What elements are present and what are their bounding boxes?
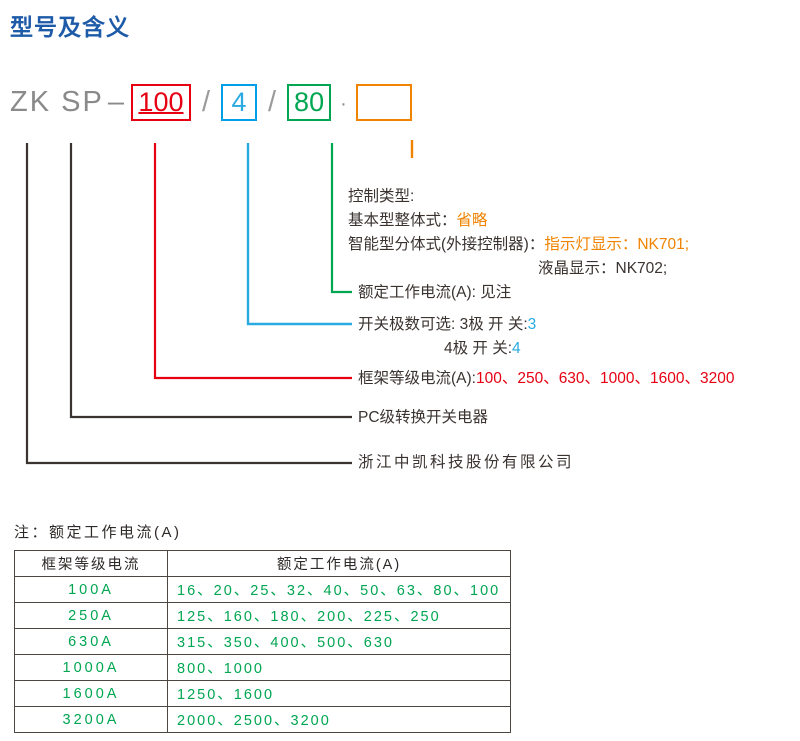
code-slash-1: / [202,88,210,117]
page-title: 型号及含义 [10,8,130,42]
annotation-basic-label: 基本型整体式： [348,212,457,229]
note-label: 注：额定工作电流(A) [14,521,182,542]
table-cell-currents: 125、160、180、200、225、250 [168,603,511,629]
table-cell-currents: 315、350、400、500、630 [168,629,511,655]
leader-line-pc-class [71,143,352,417]
code-slash-2: / [268,88,276,117]
code-box-frame-current[interactable]: 100 [131,84,191,121]
annotation-rated-current: 额定工作电流(A): 见注 [358,285,511,301]
table-cell-frame: 630A [15,629,168,655]
table-cell-frame: 1000A [15,655,168,681]
annotation-smart-value-indicator: 指示灯显示：NK701; [544,236,689,253]
annotation-poles-label: 开关极数可选: 3极 开 关: [358,316,528,333]
annotation-basic-value: 省略 [457,212,488,229]
table-header-frame: 框架等级电流 [15,551,168,577]
annotation-poles-value-4: 4 [512,340,521,357]
annotation-poles-value-3: 3 [528,316,537,333]
table-row: 1000A 800、1000 [15,655,511,681]
rated-current-table: 框架等级电流 额定工作电流(A) 100A 16、20、25、32、40、50、… [14,550,511,733]
annotation-frame-label: 框架等级电流(A): [358,370,476,387]
annotation-smart-label: 智能型分体式(外接控制器)： [348,236,544,253]
annotation-company: 浙江中凯科技股份有限公司 [358,455,574,471]
table-cell-currents: 2000、2500、3200 [168,707,511,733]
table-row: 3200A 2000、2500、3200 [15,707,511,733]
code-dash: – [108,88,124,117]
table-cell-frame: 1600A [15,681,168,707]
annotation-smart-value-lcd: 液晶显示：NK702; [538,261,667,277]
annotation-poles-label-2: 4极 开 关: [444,340,512,357]
annotation-smart-type: 智能型分体式(外接控制器)：指示灯显示：NK701; [348,237,689,253]
annotation-basic-type: 基本型整体式：省略 [348,213,488,229]
table-cell-currents: 16、20、25、32、40、50、63、80、100 [168,577,511,603]
code-box-poles[interactable]: 4 [221,84,257,121]
code-box-rated-current[interactable]: 80 [287,84,331,121]
table-header-row: 框架等级电流 额定工作电流(A) [15,551,511,577]
model-code-row: ZK SP – 100 / 4 / 80 · [10,80,412,124]
table-row: 250A 125、160、180、200、225、250 [15,603,511,629]
annotation-poles-4: 4极 开 关:4 [444,341,521,357]
table-cell-frame: 100A [15,577,168,603]
annotation-control-type-heading: 控制类型: [348,189,414,205]
leader-line-poles [248,143,352,324]
code-box-control-type[interactable] [356,84,412,121]
annotation-frame-current: 框架等级电流(A):100、250、630、1000、1600、3200 [358,371,735,387]
annotation-poles-3: 开关极数可选: 3极 开 关:3 [358,317,536,333]
leader-line-company [27,143,352,463]
table-row: 630A 315、350、400、500、630 [15,629,511,655]
table-cell-frame: 250A [15,603,168,629]
table-cell-frame: 3200A [15,707,168,733]
table-cell-currents: 800、1000 [168,655,511,681]
model-designation-diagram: 型号及含义 ZK SP – 100 / 4 / 80 · 控制类型: 基本型整体… [0,0,800,741]
annotation-pc-class: PC级转换开关电器 [358,410,488,426]
table-header-currents: 额定工作电流(A) [168,551,511,577]
code-dot: · [340,94,347,114]
code-prefix: ZK SP [10,88,104,117]
table-cell-currents: 1250、1600 [168,681,511,707]
annotation-frame-values: 100、250、630、1000、1600、3200 [476,370,735,387]
table-row: 100A 16、20、25、32、40、50、63、80、100 [15,577,511,603]
table-row: 1600A 1250、1600 [15,681,511,707]
leader-line-frame-current [155,143,352,378]
